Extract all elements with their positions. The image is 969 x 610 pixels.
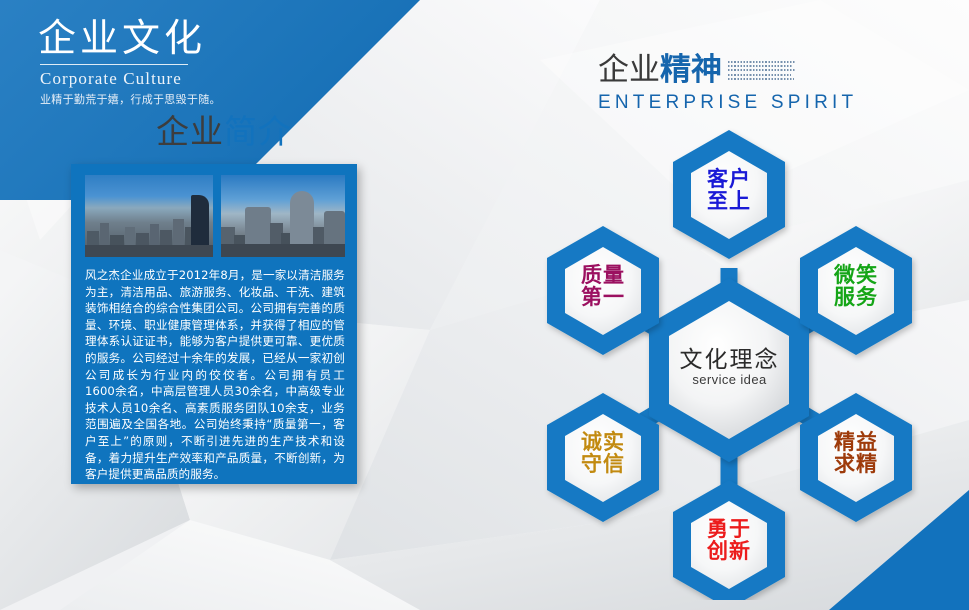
hexagon-top: [673, 130, 785, 259]
company-intro-panel: 风之杰企业成立于2012年8月，是一家以清洁服务为主，清洁用品、旅游服务、化妆品…: [71, 164, 357, 484]
enterprise-spirit-header: 企业精神 ENTERPRISE SPIRIT: [598, 52, 857, 114]
header-divider: [40, 64, 188, 65]
intro-title-blue: 简介: [224, 113, 292, 150]
hexagon-bottom: [673, 480, 785, 600]
company-intro-text: 风之杰企业成立于2012年8月，是一家以清洁服务为主，清洁用品、旅游服务、化妆品…: [85, 267, 345, 483]
intro-section-title: 企业简介: [156, 112, 292, 152]
poster-canvas: 企业文化 Corporate Culture 业精于勤荒于嬉，行成于思毁于随。 …: [0, 0, 969, 610]
hexagon-upper-right: [800, 226, 912, 355]
center-label-cn: 文化理念: [490, 340, 969, 374]
culture-hexagon-diagram: 文化理念 service idea 客户 至上 质量 第一 微笑 服务 诚实 守…: [490, 118, 969, 600]
spirit-title-en: ENTERPRISE SPIRIT: [598, 91, 857, 114]
decorative-microtext: [728, 61, 796, 82]
hexagon-upper-left: [547, 226, 659, 355]
city-skyline-photo-2: [221, 175, 345, 257]
photo-row: [85, 175, 345, 257]
intro-title-dark: 企业: [156, 113, 224, 150]
spirit-title-blue: 精神: [660, 52, 722, 88]
center-label-en: service idea: [490, 372, 969, 387]
header-title-cn: 企业文化: [38, 16, 221, 62]
spirit-title-dark: 企业: [598, 52, 660, 88]
header-motto: 业精于勤荒于嬉，行成于思毁于随。: [38, 92, 221, 108]
header-title-en: Corporate Culture: [38, 68, 221, 89]
corporate-culture-header: 企业文化 Corporate Culture 业精于勤荒于嬉，行成于思毁于随。: [38, 16, 221, 108]
city-skyline-photo-1: [85, 175, 213, 257]
